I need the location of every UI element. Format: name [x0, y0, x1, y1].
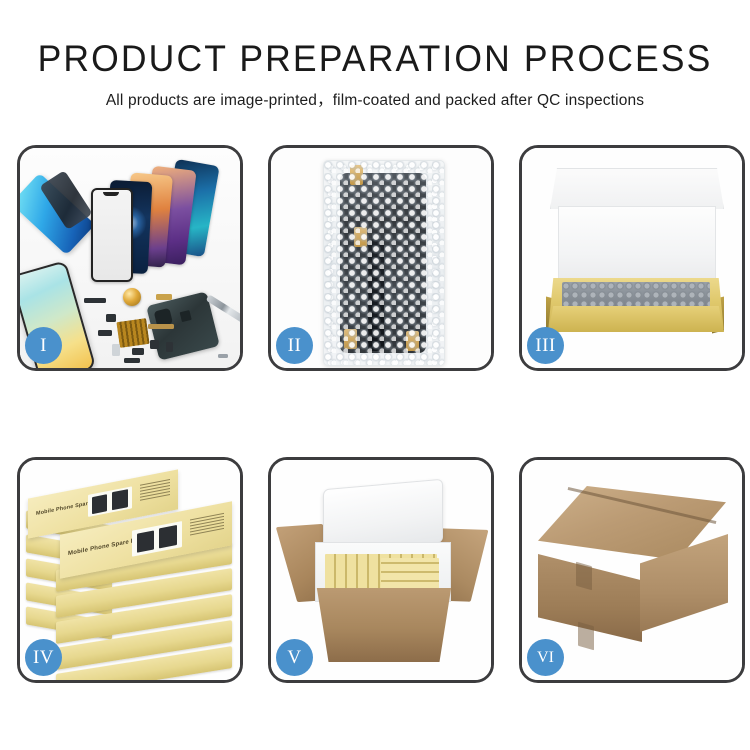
phone-thumb: [137, 530, 154, 552]
phone-white-front: [91, 188, 133, 282]
phone-thumb: [159, 525, 177, 548]
small-part: [150, 340, 159, 349]
small-part: [148, 324, 174, 329]
small-part: [124, 358, 140, 363]
small-part: [218, 354, 228, 358]
tape-bottom-left: [344, 329, 357, 349]
bubble-wrap-bag: [323, 160, 445, 366]
small-part: [166, 342, 173, 352]
small-part: [98, 330, 112, 336]
box-lid-flap: [550, 168, 724, 209]
step-badge-3: III: [527, 327, 564, 364]
small-part: [106, 314, 116, 322]
process-step-panel-4[interactable]: Mobile Phone Spare Parts Mobile Phone Sp…: [17, 457, 243, 683]
tape-bottom-right: [406, 331, 419, 351]
step-badge-1: I: [25, 327, 62, 364]
page-subtitle: All products are image-printed，film-coat…: [0, 79, 750, 110]
tape-top: [350, 165, 363, 185]
gold-coil-part: [123, 288, 141, 306]
step-badge-2: II: [276, 327, 313, 364]
process-step-panel-5[interactable]: V: [268, 457, 494, 683]
small-part: [156, 294, 172, 300]
yellow-box-front: [548, 306, 724, 332]
small-part: [112, 344, 120, 356]
step-badge-4: IV: [25, 639, 62, 676]
phone-thumb: [92, 494, 107, 514]
box-print-text-lines: [190, 513, 224, 538]
page-title: PRODUCT PREPARATION PROCESS: [15, 0, 735, 79]
step-badge-6: VI: [527, 639, 564, 676]
process-step-panel-6[interactable]: VI: [519, 457, 745, 683]
process-step-panel-1[interactable]: I: [17, 145, 243, 371]
carton-body: [311, 588, 457, 662]
gold-chip-part: [116, 318, 149, 348]
small-part: [132, 348, 144, 355]
screen-protector-film: [20, 173, 95, 256]
page-header: PRODUCT PREPARATION PROCESS All products…: [0, 0, 750, 110]
process-step-panel-2[interactable]: II: [268, 145, 494, 371]
carton-tape-upper: [576, 562, 592, 591]
process-step-panel-3[interactable]: III: [519, 145, 745, 371]
foam-sheet: [558, 206, 716, 286]
step-badge-5: V: [276, 639, 313, 676]
carton-tape-lower: [578, 622, 594, 651]
phone-thumb: [112, 489, 128, 510]
tape-middle: [354, 227, 367, 247]
box-print-window: [132, 521, 182, 557]
small-part: [84, 298, 106, 303]
process-step-grid: I II: [17, 145, 733, 683]
box-print-text-lines: [140, 479, 170, 503]
box-print-window: [88, 486, 132, 517]
screen-flex-cable: [368, 239, 384, 351]
